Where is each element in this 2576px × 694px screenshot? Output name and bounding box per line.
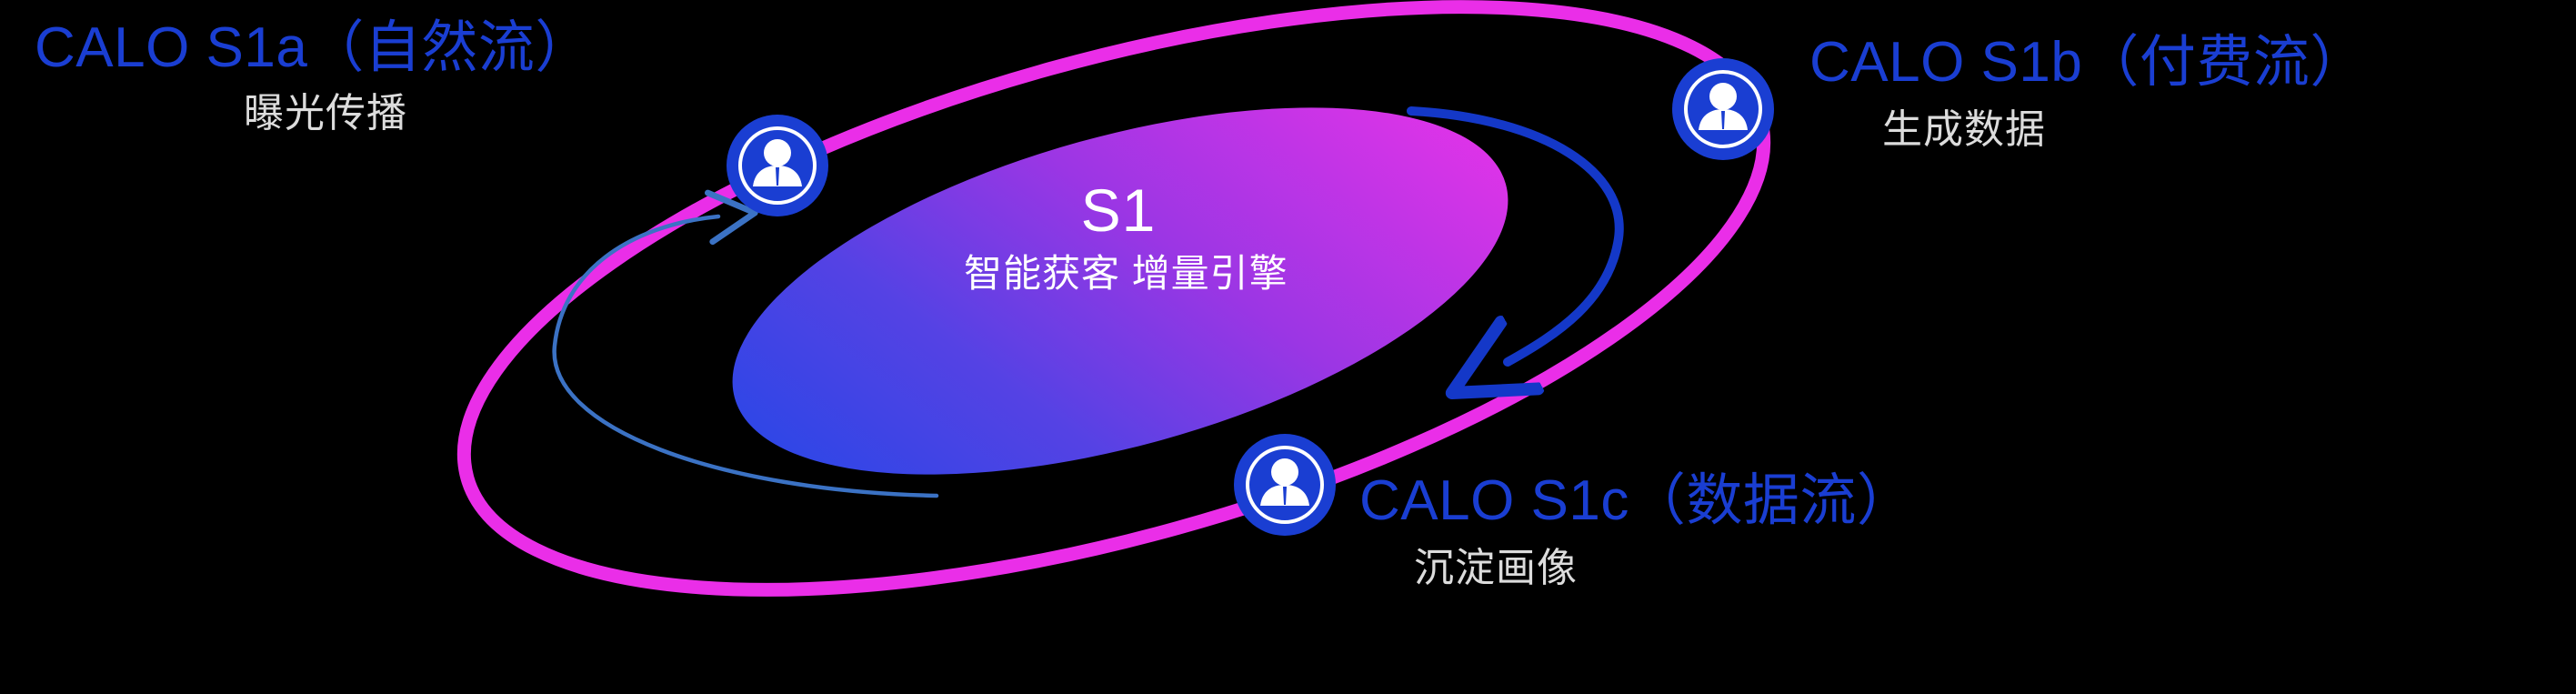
- diagram-canvas: CALO S1a（自然流） 曝光传播 CALO S1b（付费流） 生成数据 CA…: [0, 0, 2576, 694]
- node-label-s1c[interactable]: CALO S1c（数据流） 沉淀画像: [1359, 471, 1913, 590]
- person-badge-icon-s1a[interactable]: [727, 115, 828, 216]
- node-title-s1a: CALO S1a（自然流）: [35, 18, 592, 77]
- node-caption-s1c: 沉淀画像: [1414, 547, 1913, 590]
- core-subtitle: 智能获客 增量引擎: [964, 253, 1273, 295]
- node-label-s1b[interactable]: CALO S1b（付费流） 生成数据: [1809, 33, 2367, 152]
- person-badge-icon-s1b[interactable]: [1672, 58, 1774, 160]
- node-title-s1c: CALO S1c（数据流）: [1359, 471, 1913, 530]
- node-title-s1b: CALO S1b（付费流）: [1809, 33, 2367, 92]
- person-badge-icon-s1c[interactable]: [1234, 434, 1336, 536]
- node-caption-s1b: 生成数据: [1882, 108, 2367, 152]
- node-caption-s1a: 曝光传播: [244, 92, 592, 136]
- node-label-s1a[interactable]: CALO S1a（自然流） 曝光传播: [35, 18, 592, 136]
- core-title: S1: [964, 180, 1273, 240]
- core-label: S1 智能获客 增量引擎: [964, 180, 1273, 295]
